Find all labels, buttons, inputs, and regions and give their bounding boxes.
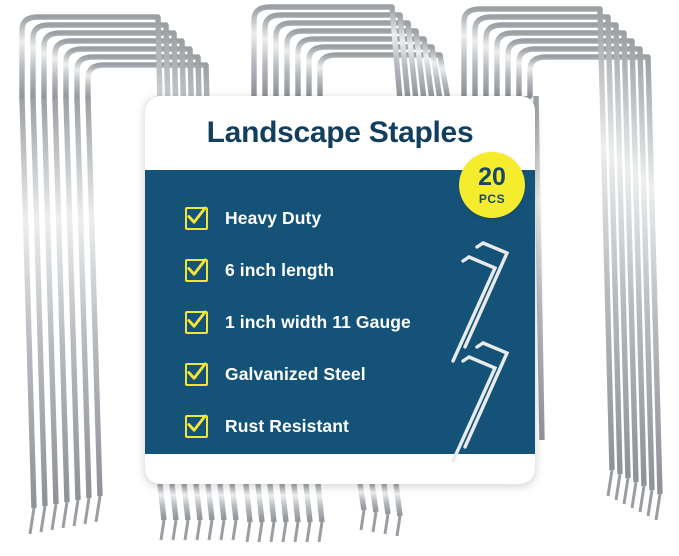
feature-label: Galvanized Steel <box>225 364 366 385</box>
quantity-badge: 20 PCS <box>459 152 525 218</box>
product-title: Landscape Staples <box>207 118 474 148</box>
feature-list: Heavy Duty 6 inch length 1 inch width 11… <box>185 198 411 458</box>
quantity-number: 20 <box>478 165 506 190</box>
feature-label: 6 inch length <box>225 260 334 281</box>
feature-label: 1 inch width 11 Gauge <box>225 312 411 333</box>
inset-staple-illustration <box>425 235 535 465</box>
checkbox-checked-icon <box>185 311 208 334</box>
quantity-unit: PCS <box>479 193 505 205</box>
checkbox-checked-icon <box>185 363 208 386</box>
feature-item: 1 inch width 11 Gauge <box>185 302 411 342</box>
feature-label: Rust Resistant <box>225 416 349 437</box>
feature-item: Galvanized Steel <box>185 354 411 394</box>
checkbox-checked-icon <box>185 415 208 438</box>
feature-item: Heavy Duty <box>185 198 411 238</box>
feature-item: Rust Resistant <box>185 406 411 446</box>
product-image: Landscape Staples Heavy Duty 6 inch leng… <box>0 0 679 556</box>
feature-label: Heavy Duty <box>225 208 321 229</box>
checkbox-checked-icon <box>185 207 208 230</box>
feature-item: 6 inch length <box>185 250 411 290</box>
checkbox-checked-icon <box>185 259 208 282</box>
